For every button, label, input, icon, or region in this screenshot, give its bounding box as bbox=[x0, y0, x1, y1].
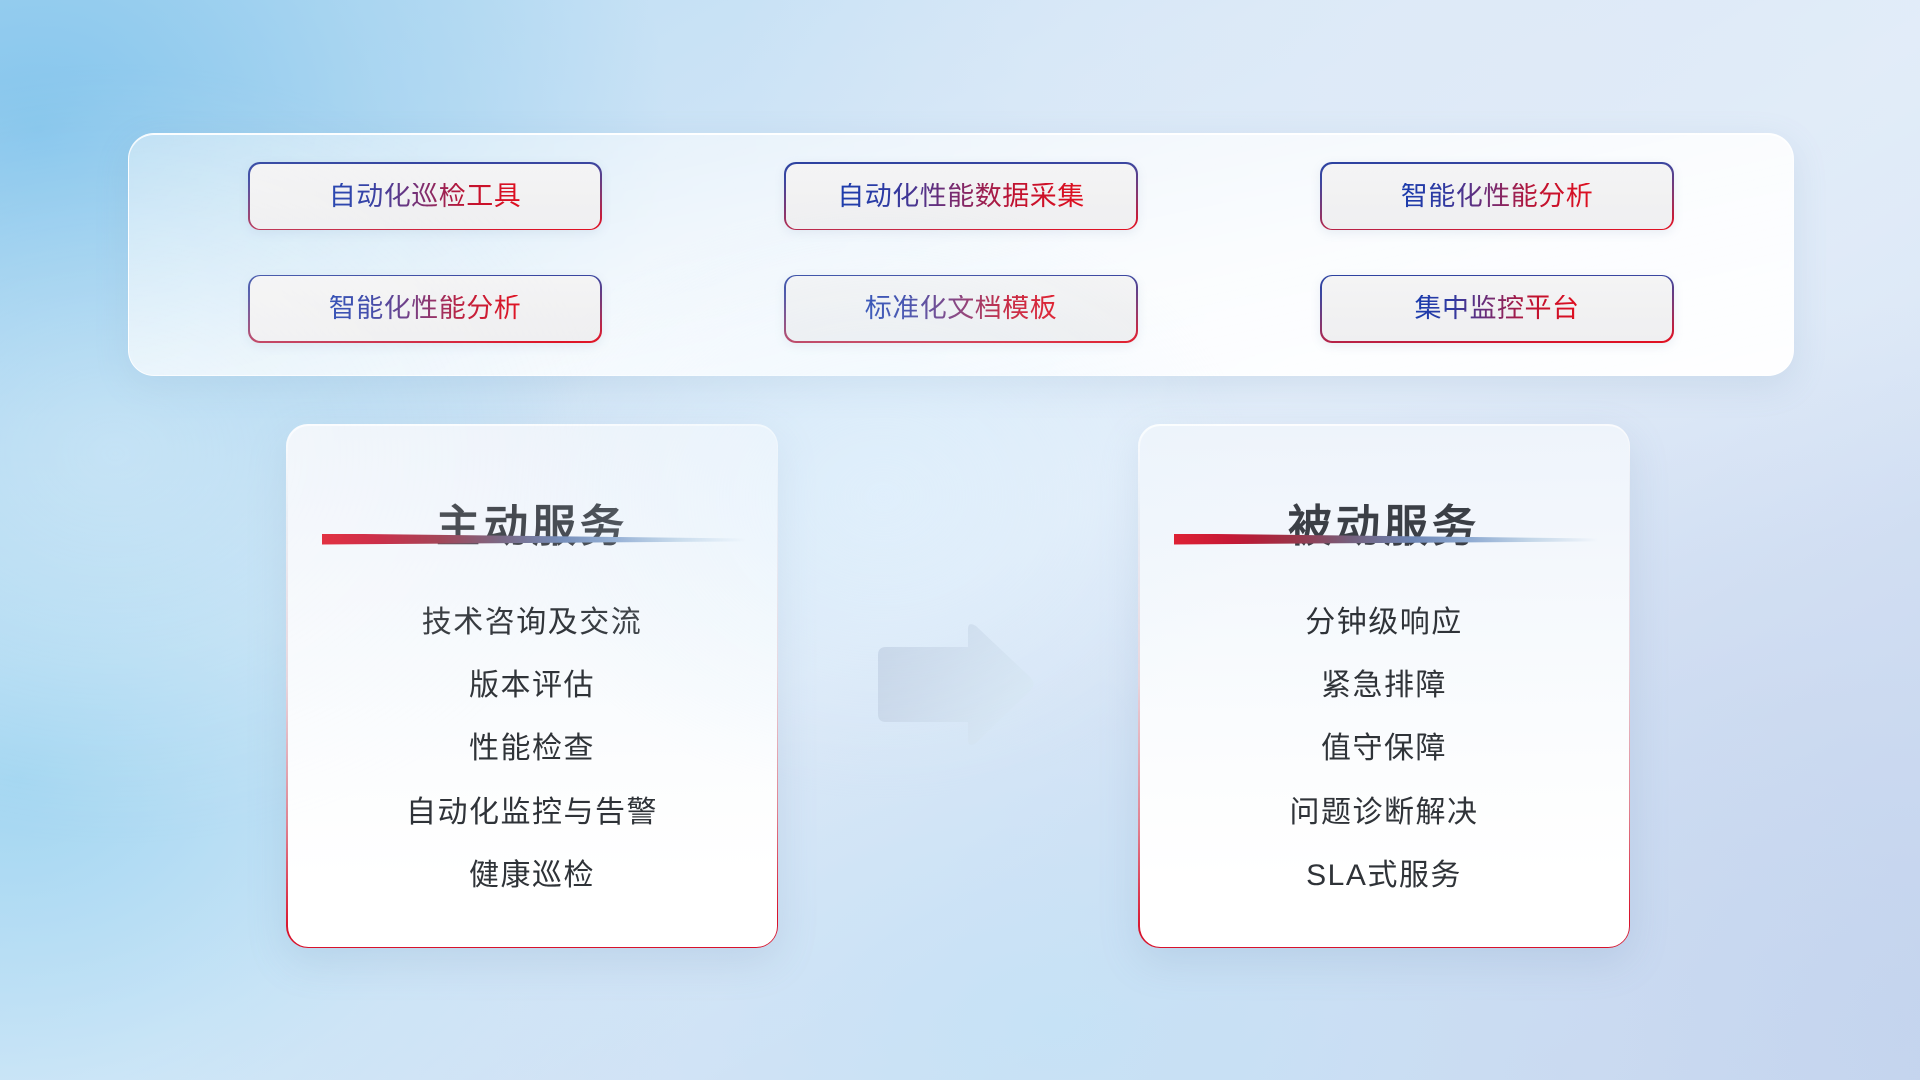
capability-chip-1-surface: 自动化巡检工具 bbox=[250, 164, 601, 229]
capability-chip-4-label: 智能化性能分析 bbox=[329, 295, 522, 322]
capability-chip-3[interactable]: 智能化性能分析 bbox=[1320, 162, 1674, 230]
list-item: 值守保障 bbox=[1321, 732, 1447, 765]
capability-chip-6[interactable]: 集中监控平台 bbox=[1320, 275, 1674, 343]
list-item: 分钟级响应 bbox=[1305, 606, 1463, 639]
infographic-canvas: 自动化巡检工具 自动化性能数据采集 智能化性能分析 智能化性能分析 bbox=[0, 0, 1920, 1080]
capability-chip-2[interactable]: 自动化性能数据采集 bbox=[784, 162, 1138, 230]
list-item: 健康巡检 bbox=[469, 859, 595, 892]
capability-chip-5[interactable]: 标准化文档模板 bbox=[784, 275, 1138, 343]
active-service-card: 主动服务 技术咨询及交流 版本评估 性能检查 自动化监控与告警 健康巡检 bbox=[286, 424, 778, 948]
passive-service-title: 被动服务 bbox=[1140, 490, 1629, 554]
capability-chip-6-label: 集中监控平台 bbox=[1415, 295, 1580, 322]
list-item: 技术咨询及交流 bbox=[422, 606, 643, 639]
active-service-list: 技术咨询及交流 版本评估 性能检查 自动化监控与告警 健康巡检 bbox=[288, 576, 777, 923]
arrow-right-icon bbox=[872, 621, 1036, 749]
list-item: 自动化监控与告警 bbox=[406, 796, 658, 829]
capability-chip-4-surface: 智能化性能分析 bbox=[250, 276, 601, 341]
capability-chip-3-label: 智能化性能分析 bbox=[1401, 183, 1594, 210]
capability-chip-1-label: 自动化巡检工具 bbox=[329, 183, 522, 210]
capability-chip-1[interactable]: 自动化巡检工具 bbox=[248, 162, 602, 230]
capability-chip-2-surface: 自动化性能数据采集 bbox=[786, 164, 1137, 229]
active-service-card-surface: 主动服务 技术咨询及交流 版本评估 性能检查 自动化监控与告警 健康巡检 bbox=[288, 426, 777, 947]
list-item: SLA式服务 bbox=[1306, 859, 1462, 892]
active-service-title: 主动服务 bbox=[288, 490, 777, 554]
passive-service-list: 分钟级响应 紧急排障 值守保障 问题诊断解决 SLA式服务 bbox=[1140, 576, 1629, 923]
capability-chip-4[interactable]: 智能化性能分析 bbox=[248, 275, 602, 343]
capability-chip-5-label: 标准化文档模板 bbox=[865, 295, 1058, 322]
capability-chip-grid: 自动化巡检工具 自动化性能数据采集 智能化性能分析 智能化性能分析 bbox=[129, 134, 1793, 375]
flow-arrow bbox=[872, 621, 1036, 749]
capability-panel: 自动化巡检工具 自动化性能数据采集 智能化性能分析 智能化性能分析 bbox=[128, 133, 1794, 376]
list-item: 紧急排障 bbox=[1321, 669, 1447, 702]
passive-service-card: 被动服务 分钟级响应 紧急排障 值守保障 问题诊断解决 SLA式服务 bbox=[1138, 424, 1630, 948]
capability-chip-2-label: 自动化性能数据采集 bbox=[837, 183, 1085, 210]
list-item: 版本评估 bbox=[469, 669, 595, 702]
list-item: 性能检查 bbox=[469, 732, 595, 765]
list-item: 问题诊断解决 bbox=[1290, 796, 1479, 829]
capability-chip-6-surface: 集中监控平台 bbox=[1322, 276, 1673, 341]
passive-service-card-surface: 被动服务 分钟级响应 紧急排障 值守保障 问题诊断解决 SLA式服务 bbox=[1140, 426, 1629, 947]
capability-chip-5-surface: 标准化文档模板 bbox=[786, 276, 1137, 341]
capability-chip-3-surface: 智能化性能分析 bbox=[1322, 164, 1673, 229]
